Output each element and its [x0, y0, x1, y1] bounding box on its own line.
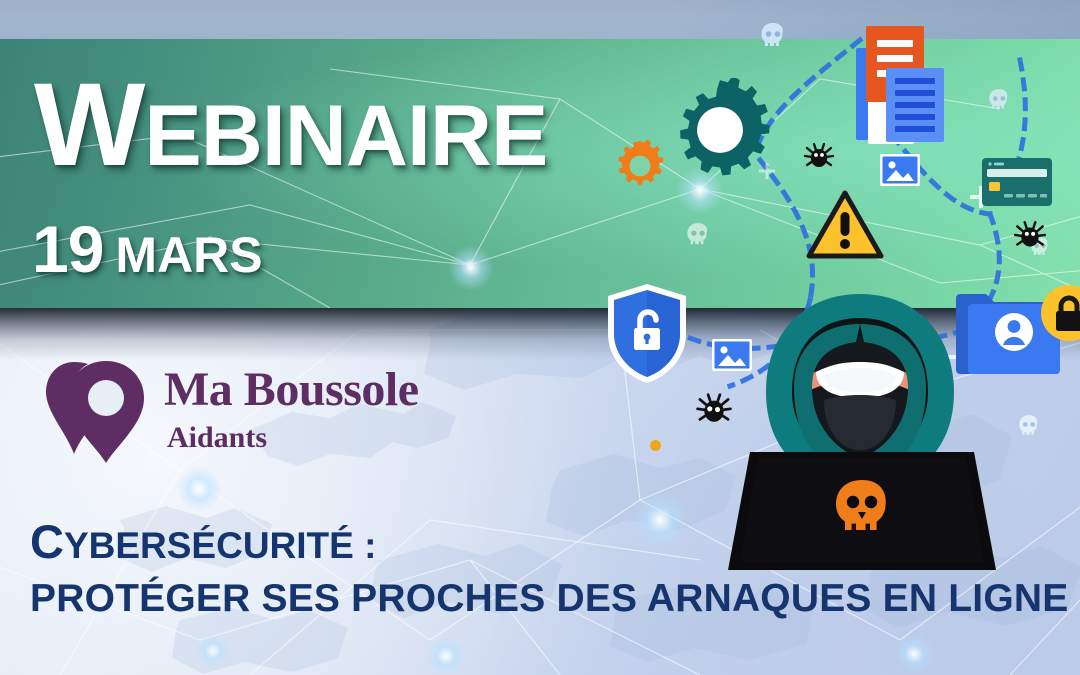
top-strip: [0, 0, 1080, 39]
subject-initial: C: [30, 515, 64, 568]
brand-tagline: Aidants: [167, 423, 419, 453]
headline-initial: W: [34, 59, 144, 191]
subject-line-1: CYBERSÉCURITÉ :: [30, 518, 1068, 565]
event-date: 19MARS: [32, 216, 263, 282]
event-date-day: 19: [32, 212, 103, 286]
page-title: WEBINAIRE: [34, 66, 547, 184]
headline-rest: EBINAIRE: [144, 88, 547, 184]
webinar-poster: WEBINAIRE 19MARS Ma Boussole Aidants CYB…: [0, 0, 1080, 675]
event-date-month: MARS: [115, 227, 262, 283]
webinar-subject: CYBERSÉCURITÉ : PROTÉGER SES PROCHES DES…: [30, 518, 1068, 618]
brand-logo[interactable]: Ma Boussole Aidants: [44, 358, 419, 464]
double-location-pin-icon: [44, 360, 152, 464]
subject-line-2: PROTÉGER SES PROCHES DES ARNAQUES EN LIG…: [30, 579, 1068, 618]
subject-rest: YBERSÉCURITÉ :: [64, 525, 376, 566]
brand-name: Ma Boussole: [164, 366, 419, 414]
brand-text: Ma Boussole Aidants: [164, 366, 419, 453]
